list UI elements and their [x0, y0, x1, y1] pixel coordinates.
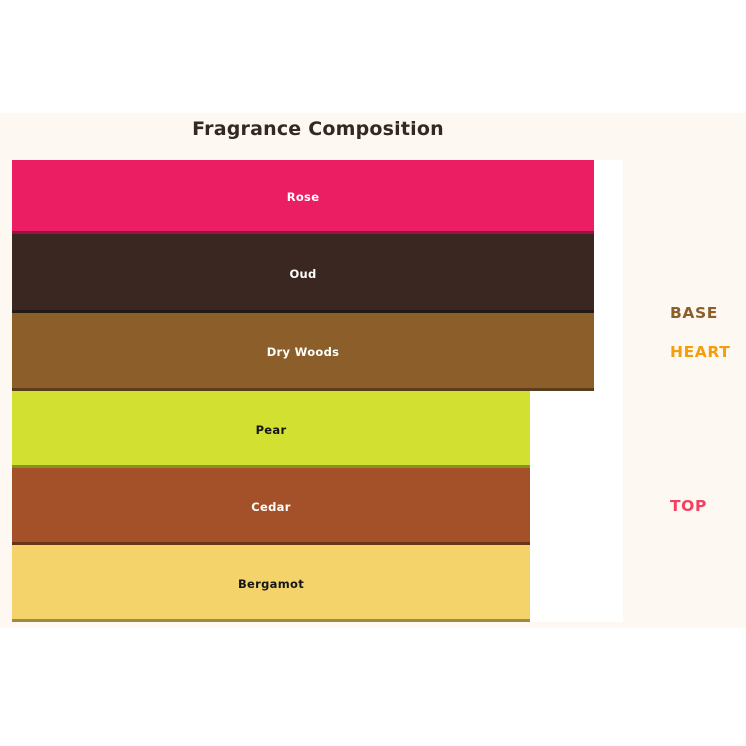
bar-label-bergamot: Bergamot — [238, 577, 304, 591]
chart-panel: Fragrance Composition Rose Oud Dry Woods… — [0, 113, 746, 628]
bar-label-pear: Pear — [256, 423, 287, 437]
bar-rose[interactable]: Rose — [12, 160, 594, 234]
bar-dry-woods[interactable]: Dry Woods — [12, 313, 594, 391]
bar-label-dry-woods: Dry Woods — [267, 345, 340, 359]
bar-cedar[interactable]: Cedar — [12, 468, 530, 545]
stage-label-base: BASE — [670, 304, 718, 322]
plot-area: Rose Oud Dry Woods Pear Cedar Bergamot — [12, 160, 623, 622]
stage-label-heart: HEART — [670, 343, 730, 361]
chart-title: Fragrance Composition — [0, 118, 636, 140]
stage-label-top: TOP — [670, 497, 707, 515]
bar-label-oud: Oud — [289, 267, 316, 281]
bar-pear[interactable]: Pear — [12, 391, 530, 468]
bar-bergamot[interactable]: Bergamot — [12, 545, 530, 622]
bar-edge-bergamot — [12, 619, 530, 622]
bar-label-cedar: Cedar — [251, 500, 290, 514]
bar-oud[interactable]: Oud — [12, 234, 594, 313]
bar-label-rose: Rose — [287, 190, 320, 204]
